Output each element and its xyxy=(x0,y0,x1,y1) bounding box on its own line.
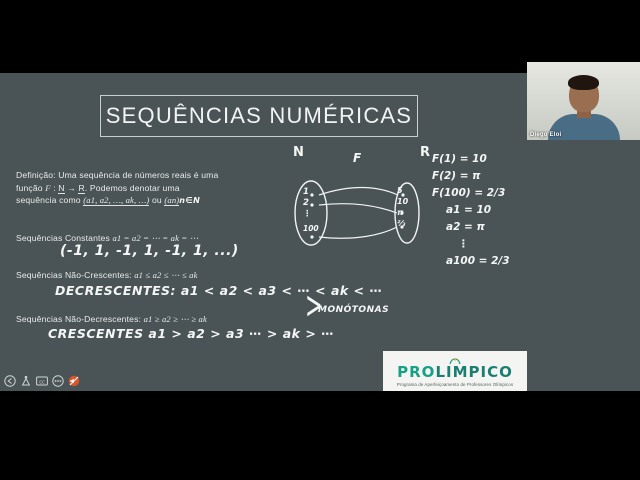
diagram-domain-elements: 1 2 ⋮ 100 xyxy=(303,187,319,234)
constantes-label: Sequências Constantes xyxy=(16,233,112,243)
definition-line3-b: ou xyxy=(149,195,164,205)
nao-crescentes-label: Sequências Não-Crescentes: xyxy=(16,270,134,280)
person-accessibility-icon[interactable] xyxy=(20,375,32,387)
monotonas-annotation: MONÓTONAS xyxy=(318,305,389,315)
constantes-handwritten: (-1, 1, -1, 1, -1, 1, ...) xyxy=(60,243,239,259)
nao-decrescentes-formula: a1 ≥ a2 ≥ ⋯ ≥ ak xyxy=(144,314,207,324)
definition-line2-a: função xyxy=(16,183,45,193)
definition-text: Definição: Uma sequência de números reai… xyxy=(16,169,228,208)
equation-item: a2 = π xyxy=(432,219,532,236)
slide-title-box: SEQUÊNCIAS NUMÉRICAS xyxy=(100,95,418,137)
back-arrow-icon[interactable] xyxy=(4,375,16,387)
definition-tuple: (a1, a2, …, ak, …) xyxy=(83,195,149,206)
domain-element: 1 xyxy=(303,187,319,198)
crescentes-handwritten: CRESCENTES a1 > a2 > a3 ⋯ > ak > ⋯ xyxy=(48,326,334,341)
decrescentes-handwritten: DECRESCENTES: a1 < a2 < a3 < ⋯ < ak < ⋯ xyxy=(55,283,382,298)
definition-lead: Definição: xyxy=(16,170,56,180)
nao-decrescentes-label: Sequências Não-Decrescentes: xyxy=(16,314,144,324)
diagram-codomain-label: R xyxy=(420,145,430,160)
codomain-element: 10 xyxy=(397,196,408,207)
equation-item: a1 = 10 xyxy=(432,202,532,219)
codomain-element: 5 xyxy=(397,185,408,196)
definition-arrow: → xyxy=(65,183,79,193)
nao-crescentes-line: Sequências Não-Crescentes: a1 ≤ a2 ≤ ⋯ ≤… xyxy=(16,269,246,282)
webcam-overlay[interactable]: Diego Eloi xyxy=(527,62,640,140)
participant-name-label: Diego Eloi xyxy=(530,132,561,138)
svg-text:cc: cc xyxy=(39,379,45,385)
domain-element: 2 xyxy=(303,198,319,209)
closed-caption-icon[interactable]: cc xyxy=(36,375,48,387)
definition-subscript: n∈N xyxy=(179,196,200,205)
diagram-domain-label: N xyxy=(293,145,304,160)
equation-item: a100 = 2/3 xyxy=(432,253,532,270)
mute-icon[interactable] xyxy=(68,375,80,387)
video-player[interactable]: SEQUÊNCIAS NUMÉRICAS Definição: Uma sequ… xyxy=(0,0,640,480)
equation-item: ⋮ xyxy=(432,236,532,253)
equation-item: F(1) = 10 xyxy=(432,151,532,168)
domain-element: 100 xyxy=(303,223,319,234)
constantes-formula: a1 = a2 = ⋯ = ak = ⋯ xyxy=(112,233,198,243)
definition-line1: Uma sequência de números reais é uma xyxy=(56,170,219,180)
webcam-person-hair xyxy=(568,75,599,90)
player-toolbar[interactable]: cc xyxy=(0,370,640,392)
definition-line2-b: . Podemos denotar uma xyxy=(85,183,180,193)
equation-item: F(2) = π xyxy=(432,168,532,185)
definition-line3-a: sequência como xyxy=(16,195,83,205)
diagram-codomain-elements: 5 10 π ⅔ xyxy=(397,185,408,229)
diagram-function-label: F xyxy=(353,151,361,165)
codomain-element: π xyxy=(397,207,408,218)
definition-an: (an) xyxy=(164,195,179,206)
more-options-icon[interactable] xyxy=(52,375,64,387)
handwritten-equations: F(1) = 10 F(2) = π F(100) = 2/3 a1 = 10 … xyxy=(432,151,532,270)
function-diagram: N F R 1 2 ⋮ 100 xyxy=(285,145,435,265)
equation-item: F(100) = 2/3 xyxy=(432,185,532,202)
nao-decrescentes-line: Sequências Não-Decrescentes: a1 ≥ a2 ≥ ⋯… xyxy=(16,313,256,326)
page-title: SEQUÊNCIAS NUMÉRICAS xyxy=(106,103,412,129)
codomain-element: ⅔ xyxy=(397,218,408,229)
domain-element: ⋮ xyxy=(303,209,319,220)
nao-crescentes-formula: a1 ≤ a2 ≤ ⋯ ≤ ak xyxy=(134,270,197,280)
